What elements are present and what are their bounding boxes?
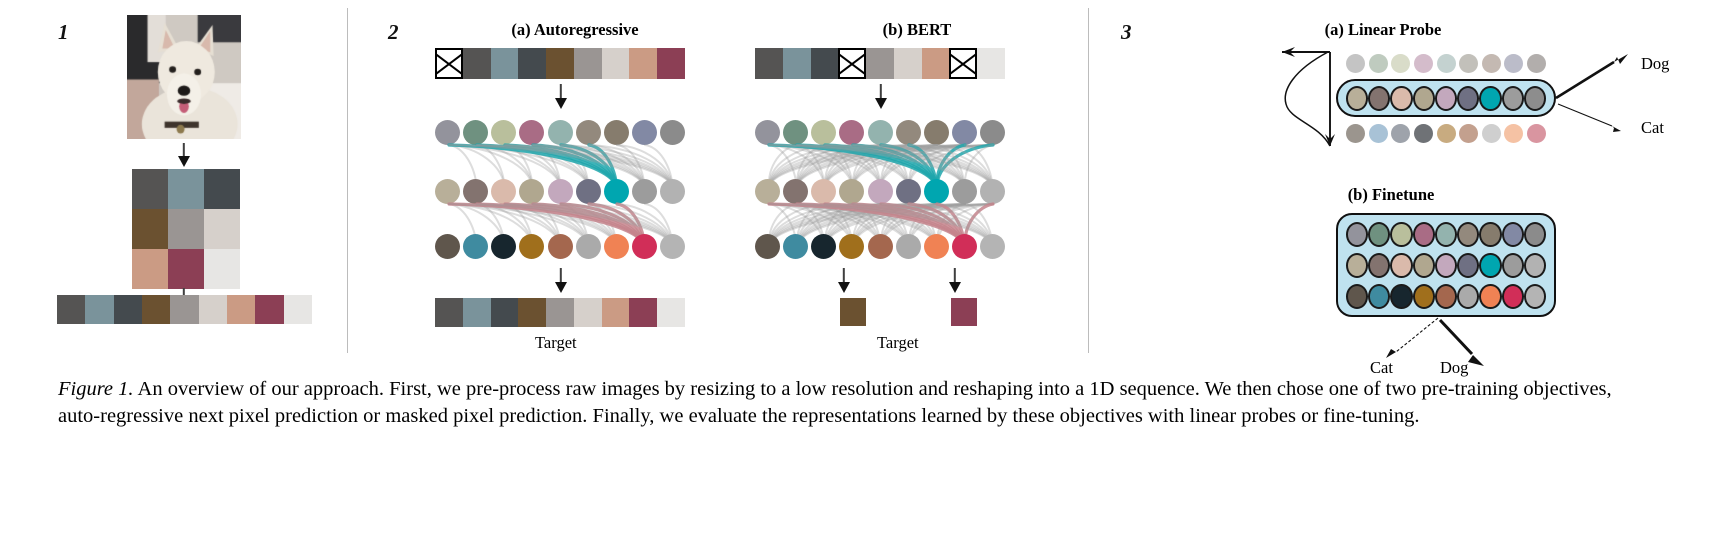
arrow-photo-to-grid [177, 143, 191, 167]
bert-layer1-node [868, 120, 893, 145]
panel-2-pretraining: 2 (a) Autoregressive Target (b) BERT [347, 0, 1088, 360]
bert-input-cell [811, 48, 839, 79]
finetune-r3-node [1479, 284, 1501, 309]
finetune-row-1 [1346, 220, 1546, 248]
pixel-grid-cell [168, 209, 204, 249]
ar-target-cell [546, 298, 574, 327]
finetune-r2-node [1502, 253, 1524, 278]
pixel-sequence-cell [85, 295, 113, 324]
probe-mid-node [1479, 86, 1501, 111]
ar-layer1-node [519, 120, 544, 145]
bert-input-cell [977, 48, 1005, 79]
finetune-title: (b) Finetune [1276, 185, 1506, 205]
pixel-grid-cell [204, 209, 240, 249]
panel-1-number: 1 [58, 20, 69, 45]
arrow-ar-layer3-to-target [554, 268, 568, 293]
arrow-bert-input-to-layer1 [874, 84, 888, 109]
autoregressive-layer3-nodes [435, 232, 685, 260]
autoregressive-layer2-nodes [435, 177, 685, 205]
probe-bot-node [1459, 124, 1478, 143]
finetune-r2-node [1413, 253, 1435, 278]
pixel-grid-cell [168, 169, 204, 209]
bert-target-swatch [840, 298, 866, 326]
bert-layer3-node [839, 234, 864, 259]
ar-layer2-node [491, 179, 516, 204]
pixel-sequence-cell [284, 295, 312, 324]
finetune-r1-node [1435, 222, 1457, 247]
bert-layer3-node [980, 234, 1005, 259]
pixel-sequence-cell [227, 295, 255, 324]
panel-3-evaluation: 3 (a) Linear Probe Dog Cat (b) Finetune [1088, 0, 1710, 360]
ar-layer1-node [604, 120, 629, 145]
arrow-ar-input-to-layer1 [554, 84, 568, 109]
probe-top-node [1504, 54, 1523, 73]
bert-layer2-node [952, 179, 977, 204]
probe-top-node [1414, 54, 1433, 73]
probe-bot-node [1504, 124, 1523, 143]
autoregressive-layer1-nodes [435, 118, 685, 146]
linear-probe-label-cat: Cat [1641, 118, 1664, 138]
probe-bot-node [1527, 124, 1546, 143]
ar-layer2-node [604, 179, 629, 204]
finetune-r1-node [1413, 222, 1435, 247]
arrow-bert-target-2 [948, 268, 962, 293]
ar-layer3-node [435, 234, 460, 259]
ar-target-cell [629, 298, 657, 327]
finetune-r3-node [1390, 284, 1412, 309]
finetune-r3-node [1457, 284, 1479, 309]
bert-layer3-nodes [755, 232, 1005, 260]
probe-top-node [1369, 54, 1388, 73]
bert-layer2-node [924, 179, 949, 204]
ar-target-cell [463, 298, 491, 327]
probe-mid-node [1524, 86, 1546, 111]
probe-mid-node [1368, 86, 1390, 111]
finetune-r1-node [1479, 222, 1501, 247]
ar-target-cell [657, 298, 685, 327]
linear-probe-row-mid [1346, 84, 1546, 112]
ar-layer1-node [660, 120, 685, 145]
autoregressive-target-strip [435, 298, 685, 327]
bert-layer2-node [868, 179, 893, 204]
bert-layer2-node [755, 179, 780, 204]
finetune-r1-node [1457, 222, 1479, 247]
bert-layer2-nodes [755, 177, 1005, 205]
linear-probe-feedback-arrow [1268, 46, 1340, 158]
ar-input-cell [463, 48, 491, 79]
linear-probe-title: (a) Linear Probe [1268, 20, 1498, 40]
ar-input-cell [629, 48, 657, 79]
finetune-r1-node [1368, 222, 1390, 247]
probe-top-node [1482, 54, 1501, 73]
pixel-grid-cell [132, 249, 168, 289]
pixel-grid-cell [132, 169, 168, 209]
bert-input-mask-cell [838, 48, 866, 79]
autoregressive-title: (a) Autoregressive [440, 20, 710, 40]
panel-2-number: 2 [388, 20, 399, 45]
ar-layer3-node [632, 234, 657, 259]
pixel-sequence-1d [57, 295, 312, 324]
bert-layer1-node [839, 120, 864, 145]
ar-layer1-node [435, 120, 460, 145]
arrow-bert-target-1 [837, 268, 851, 293]
ar-layer1-node [576, 120, 601, 145]
finetune-r2-node [1457, 253, 1479, 278]
ar-input-cell [546, 48, 574, 79]
finetune-label-dog: Dog [1440, 358, 1468, 378]
finetune-r2-node [1368, 253, 1390, 278]
ar-input-cell [491, 48, 519, 79]
bert-layer2-node [896, 179, 921, 204]
ar-target-cell [518, 298, 546, 327]
pixel-sequence-cell [142, 295, 170, 324]
bert-title: (b) BERT [782, 20, 1052, 40]
bert-layer1-node [896, 120, 921, 145]
bert-target-label: Target [877, 333, 919, 353]
pixel-grid-cell [204, 169, 240, 209]
finetune-r3-node [1435, 284, 1457, 309]
finetune-r2-node [1435, 253, 1457, 278]
autoregressive-input-strip [435, 48, 685, 79]
ar-layer2-node [435, 179, 460, 204]
pixel-sequence-cell [170, 295, 198, 324]
finetune-row-2 [1346, 251, 1546, 279]
probe-mid-node [1346, 86, 1368, 111]
linear-probe-row-bot [1346, 122, 1546, 144]
finetune-r1-node [1524, 222, 1546, 247]
probe-bot-node [1346, 124, 1365, 143]
bert-target-swatch [951, 298, 977, 326]
probe-top-node [1346, 54, 1365, 73]
ar-input-cell [657, 48, 685, 79]
bert-layer3-node [755, 234, 780, 259]
ar-input-cell [518, 48, 546, 79]
ar-layer2-node [463, 179, 488, 204]
bert-layer2-node [783, 179, 808, 204]
figure-caption: Figure 1. An overview of our approach. F… [58, 376, 1658, 431]
bert-layer1-node [811, 120, 836, 145]
ar-target-cell [602, 298, 630, 327]
bert-layer3-node [783, 234, 808, 259]
probe-mid-node [1413, 86, 1435, 111]
bert-input-mask-cell [949, 48, 977, 79]
ar-layer3-node [660, 234, 685, 259]
pixel-sequence-cell [57, 295, 85, 324]
bert-layer1-node [783, 120, 808, 145]
bert-layer2-node [811, 179, 836, 204]
probe-mid-node [1502, 86, 1524, 111]
finetune-r1-node [1502, 222, 1524, 247]
bert-layer3-node [811, 234, 836, 259]
bert-layer1-nodes [755, 118, 1005, 146]
finetune-r3-node [1502, 284, 1524, 309]
probe-top-node [1459, 54, 1478, 73]
ar-layer2-node [519, 179, 544, 204]
ar-layer3-node [576, 234, 601, 259]
finetune-r3-node [1346, 284, 1368, 309]
bert-input-cell [894, 48, 922, 79]
probe-mid-node [1435, 86, 1457, 111]
bert-layer3-node [952, 234, 977, 259]
ar-input-cell [574, 48, 602, 79]
bert-layer1-node [924, 120, 949, 145]
ar-layer3-node [491, 234, 516, 259]
caption-lead: Figure 1. [58, 378, 134, 400]
ar-layer2-node [548, 179, 573, 204]
bert-layer3-node [896, 234, 921, 259]
panel-3-number: 3 [1121, 20, 1132, 45]
pixel-grid-cell [132, 209, 168, 249]
pixel-grid-cell [204, 249, 240, 289]
pixel-sequence-cell [199, 295, 227, 324]
pixel-sequence-cell [114, 295, 142, 324]
ar-layer3-node [548, 234, 573, 259]
finetune-r3-node [1413, 284, 1435, 309]
finetune-r1-node [1390, 222, 1412, 247]
ar-layer3-node [604, 234, 629, 259]
probe-bot-node [1414, 124, 1433, 143]
probe-bot-node [1437, 124, 1456, 143]
ar-layer1-node [632, 120, 657, 145]
bert-target-swatches [755, 298, 1005, 328]
finetune-r1-node [1346, 222, 1368, 247]
finetune-r2-node [1524, 253, 1546, 278]
bert-input-strip [755, 48, 1005, 79]
ar-input-mask-cell [435, 48, 463, 79]
ar-layer3-node [463, 234, 488, 259]
finetune-row-3 [1346, 282, 1546, 310]
caption-text: An overview of our approach. First, we p… [58, 378, 1612, 427]
bert-input-cell [866, 48, 894, 79]
ar-layer1-node [463, 120, 488, 145]
bert-layer1-node [980, 120, 1005, 145]
finetune-r2-node [1479, 253, 1501, 278]
ar-layer2-node [632, 179, 657, 204]
bert-layer2-node [839, 179, 864, 204]
bert-layer1-node [952, 120, 977, 145]
probe-top-node [1527, 54, 1546, 73]
ar-input-cell [602, 48, 630, 79]
probe-top-node [1391, 54, 1410, 73]
bert-layer2-node [980, 179, 1005, 204]
pixel-grid-3x3 [132, 169, 240, 289]
bert-input-cell [922, 48, 950, 79]
finetune-label-cat: Cat [1370, 358, 1393, 378]
probe-bot-node [1482, 124, 1501, 143]
ar-target-cell [435, 298, 463, 327]
pixel-grid-cell [168, 249, 204, 289]
linear-probe-row-top [1346, 52, 1546, 74]
finetune-r2-node [1390, 253, 1412, 278]
bert-layer3-node [868, 234, 893, 259]
finetune-r3-node [1368, 284, 1390, 309]
ar-layer3-node [519, 234, 544, 259]
finetune-r2-node [1346, 253, 1368, 278]
probe-bot-node [1369, 124, 1388, 143]
ar-target-cell [574, 298, 602, 327]
finetune-r3-node [1524, 284, 1546, 309]
probe-mid-node [1390, 86, 1412, 111]
bert-layer3-node [924, 234, 949, 259]
probe-bot-node [1391, 124, 1410, 143]
panel-1-preprocess: 1 [0, 0, 347, 360]
dog-photo [127, 15, 241, 139]
ar-layer1-node [548, 120, 573, 145]
ar-target-cell [491, 298, 519, 327]
probe-mid-node [1457, 86, 1479, 111]
figure-1: 1 2 (a) Autoregressive [0, 0, 1710, 546]
bert-layer1-node [755, 120, 780, 145]
autoregressive-target-label: Target [535, 333, 577, 353]
ar-layer2-node [576, 179, 601, 204]
pixel-sequence-cell [255, 295, 283, 324]
probe-top-node [1437, 54, 1456, 73]
bert-input-cell [783, 48, 811, 79]
ar-layer1-node [491, 120, 516, 145]
bert-input-cell [755, 48, 783, 79]
ar-layer2-node [660, 179, 685, 204]
linear-probe-label-dog: Dog [1641, 54, 1669, 74]
